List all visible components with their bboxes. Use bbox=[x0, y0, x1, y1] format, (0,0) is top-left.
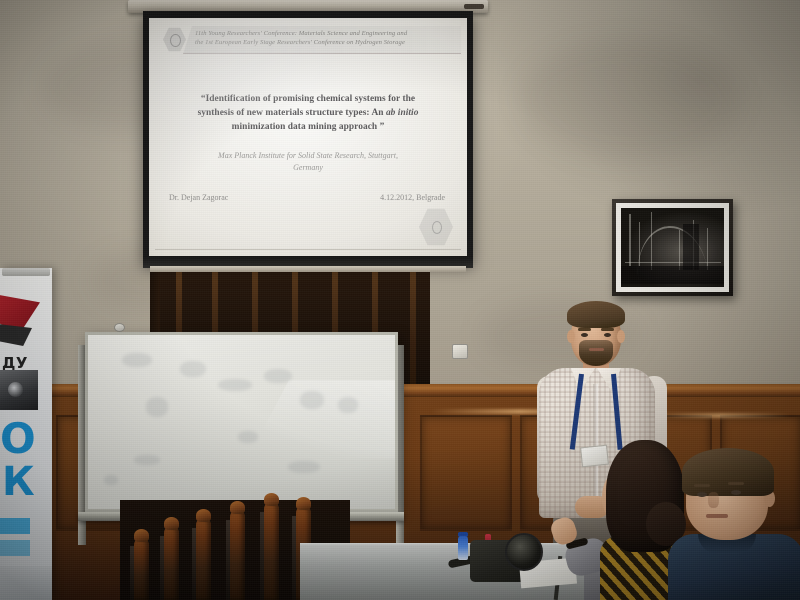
hexagon-watermark-icon bbox=[419, 208, 453, 246]
slide-title-line-3: minimization data mining approach ” bbox=[232, 122, 385, 132]
man-mouth bbox=[706, 514, 728, 518]
camera-lens bbox=[505, 533, 543, 571]
slide-title-line-2a: synthesis of new materials structure typ… bbox=[198, 108, 386, 118]
artwork-mat bbox=[616, 203, 729, 292]
screen-hem bbox=[150, 266, 466, 272]
affiliation-line-2: Germany bbox=[293, 163, 323, 172]
banner-photo-thumbnail bbox=[0, 370, 38, 410]
screen-control-switch[interactable] bbox=[114, 323, 125, 332]
presenter-beard bbox=[579, 340, 613, 366]
slide-author: Dr. Dejan Zagorac bbox=[169, 193, 228, 202]
banner-letter-o: О bbox=[0, 420, 36, 458]
banner-letter-k: К bbox=[2, 464, 35, 500]
slide-title-line-1: “Identification of promising chemical sy… bbox=[201, 94, 415, 104]
slide-footer-rule bbox=[155, 249, 461, 250]
man-hair bbox=[682, 448, 774, 496]
banner-base bbox=[0, 566, 52, 600]
presenter-mouth bbox=[589, 348, 604, 351]
housing-endcap bbox=[464, 4, 484, 9]
slide-affiliation: Max Planck Institute for Solid State Res… bbox=[173, 150, 443, 173]
presenter-hair bbox=[567, 301, 625, 328]
slide-date-location: 4.12.2012, Belgrade bbox=[380, 193, 445, 202]
lecture-hall-photo: 11th Young Researchers' Conference: Mate… bbox=[0, 0, 800, 600]
man-nose bbox=[708, 492, 719, 508]
affiliation-line-1: Max Planck Institute for Solid State Res… bbox=[218, 151, 398, 160]
slide-title-line-2b: ab initio bbox=[386, 108, 419, 118]
slide-surface: 11th Young Researchers' Conference: Mate… bbox=[149, 18, 467, 256]
conference-name-line-2: the 1st European Early Stage Researchers… bbox=[195, 39, 459, 47]
hexagon-conference-logo-icon bbox=[163, 27, 186, 52]
water-bottle bbox=[458, 536, 468, 560]
framed-artwork bbox=[612, 199, 733, 296]
conference-name-line-1: 11th Young Researchers' Conference: Mate… bbox=[195, 30, 459, 38]
wall-socket[interactable] bbox=[452, 344, 468, 359]
banner-dark-shape bbox=[0, 324, 32, 346]
slide-title: “Identification of promising chemical sy… bbox=[167, 92, 449, 134]
artwork-image bbox=[621, 208, 724, 287]
seated-man bbox=[672, 448, 800, 600]
roll-up-banner: ДУ О К bbox=[0, 268, 52, 600]
banner-top-rail bbox=[2, 268, 50, 276]
whiteboard-sheen bbox=[248, 380, 395, 458]
slide-header: 11th Young Researchers' Conference: Mate… bbox=[163, 26, 461, 53]
projection-screen: 11th Young Researchers' Conference: Mate… bbox=[143, 11, 473, 263]
whiteboard[interactable] bbox=[85, 332, 398, 512]
